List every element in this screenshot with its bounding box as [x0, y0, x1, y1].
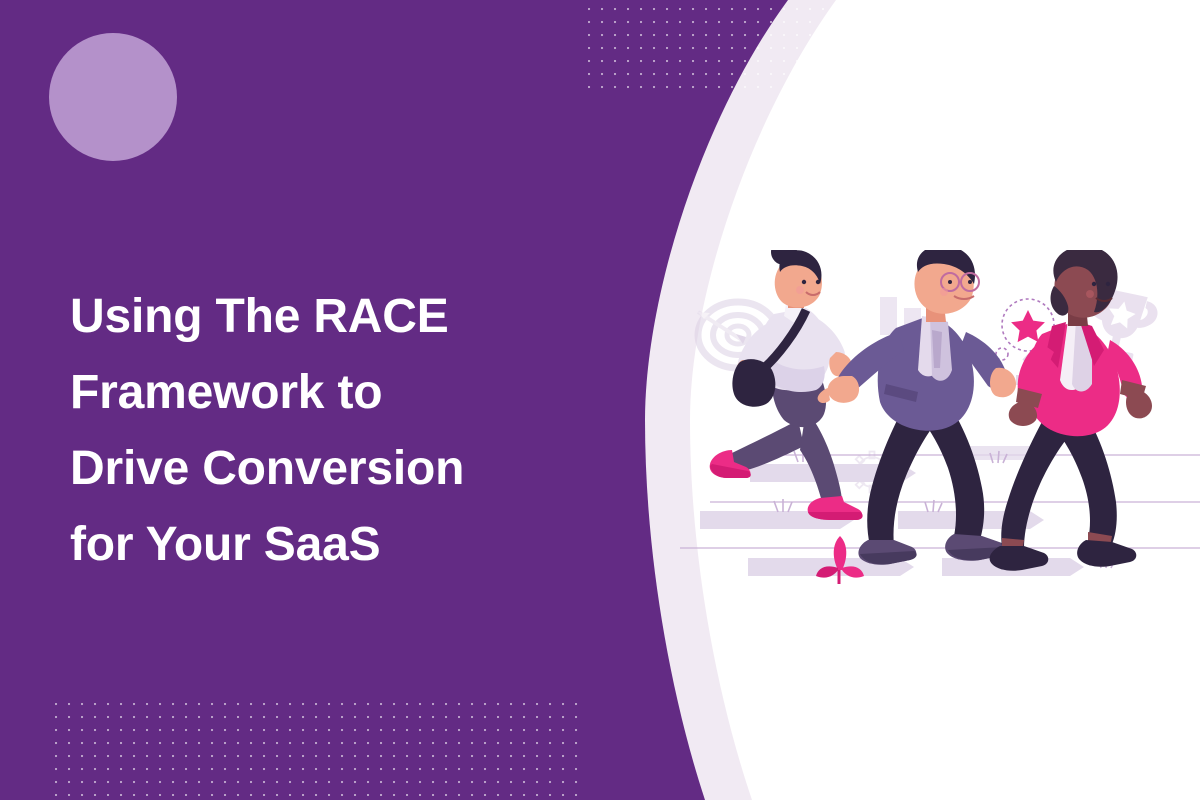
page-title: Using The RACE Framework to Drive Conver… — [70, 279, 590, 583]
illustration-runners — [680, 250, 1200, 610]
banner-canvas: Using The RACE Framework to Drive Conver… — [0, 0, 1200, 800]
decorative-circle — [49, 33, 177, 161]
